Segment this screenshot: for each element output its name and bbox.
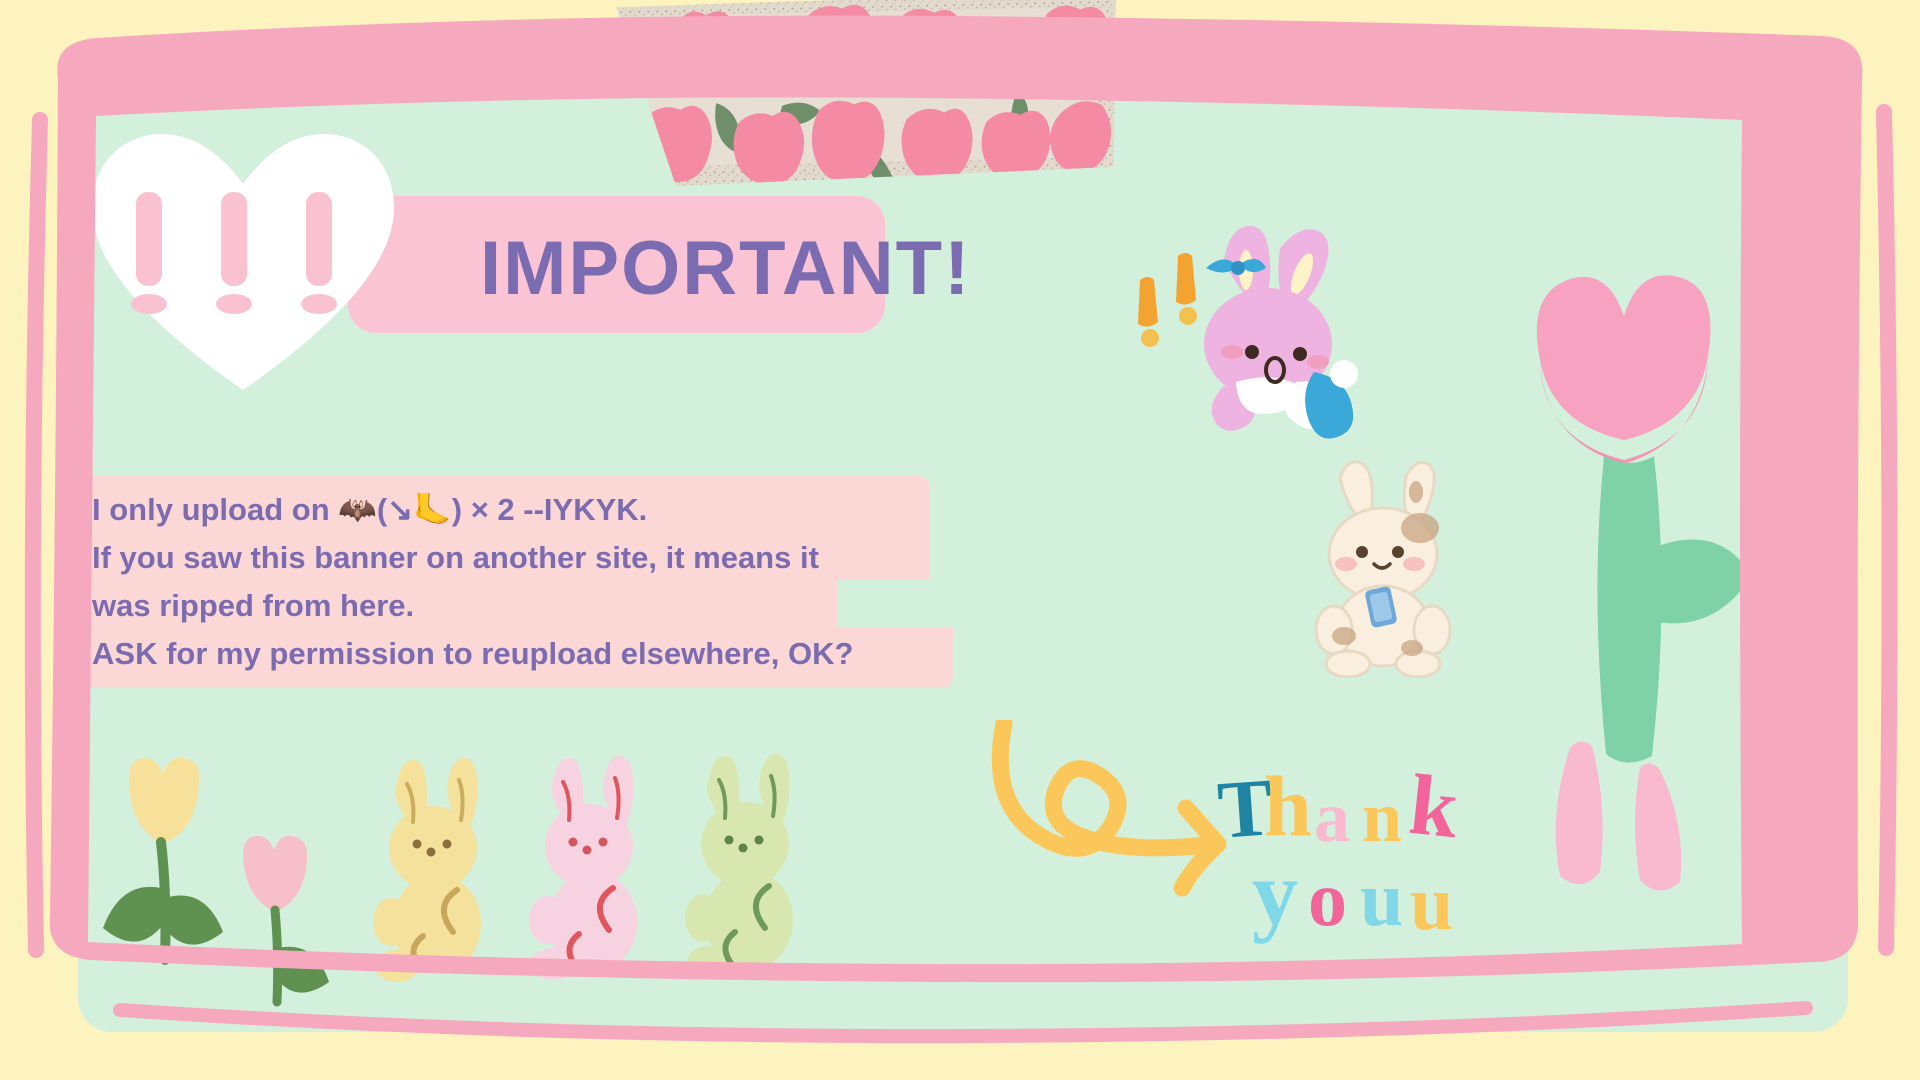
yellow-tulip-icon xyxy=(103,758,223,960)
ty-letter-o: o xyxy=(1308,854,1347,944)
ty-letter-y: y xyxy=(1252,840,1298,946)
ty-letter-u1: u xyxy=(1360,854,1403,944)
ty-letter-k: k xyxy=(1405,754,1463,858)
page-title: IMPORTANT! xyxy=(480,225,971,312)
ty-letter-u2: u xyxy=(1410,858,1453,948)
body-text: I only upload on 🦇(↘🦶) × 2 --IYKYK. If y… xyxy=(92,486,992,678)
body-line-3: was ripped from here. xyxy=(92,582,992,630)
sitting-bunny-illustration xyxy=(1288,458,1478,678)
ty-letter-n: n xyxy=(1362,776,1402,859)
heart-exclamation-icon xyxy=(88,128,398,396)
yellow-bunny-cookie xyxy=(373,758,481,982)
bottom-decoration-row xyxy=(95,740,975,1010)
body-line-1: I only upload on 🦇(↘🦶) × 2 --IYKYK. xyxy=(92,486,992,534)
banner-canvas: IMPORTANT! I only upload on 🦇(↘🦶) × 2 --… xyxy=(0,0,1920,1080)
green-bunny-cookie xyxy=(685,754,793,978)
ty-letter-a: a xyxy=(1314,776,1350,859)
flying-bunny-illustration xyxy=(1128,222,1378,452)
thank-you-lettering: T h a n k y o u u xyxy=(1218,762,1518,962)
pink-tulip-icon xyxy=(243,836,329,1002)
pink-bunny-cookie xyxy=(529,756,637,980)
body-line-2: If you saw this banner on another site, … xyxy=(92,534,992,582)
washi-tape-decoration xyxy=(610,0,1126,191)
body-line-4: ASK for my permission to reupload elsewh… xyxy=(92,630,992,678)
